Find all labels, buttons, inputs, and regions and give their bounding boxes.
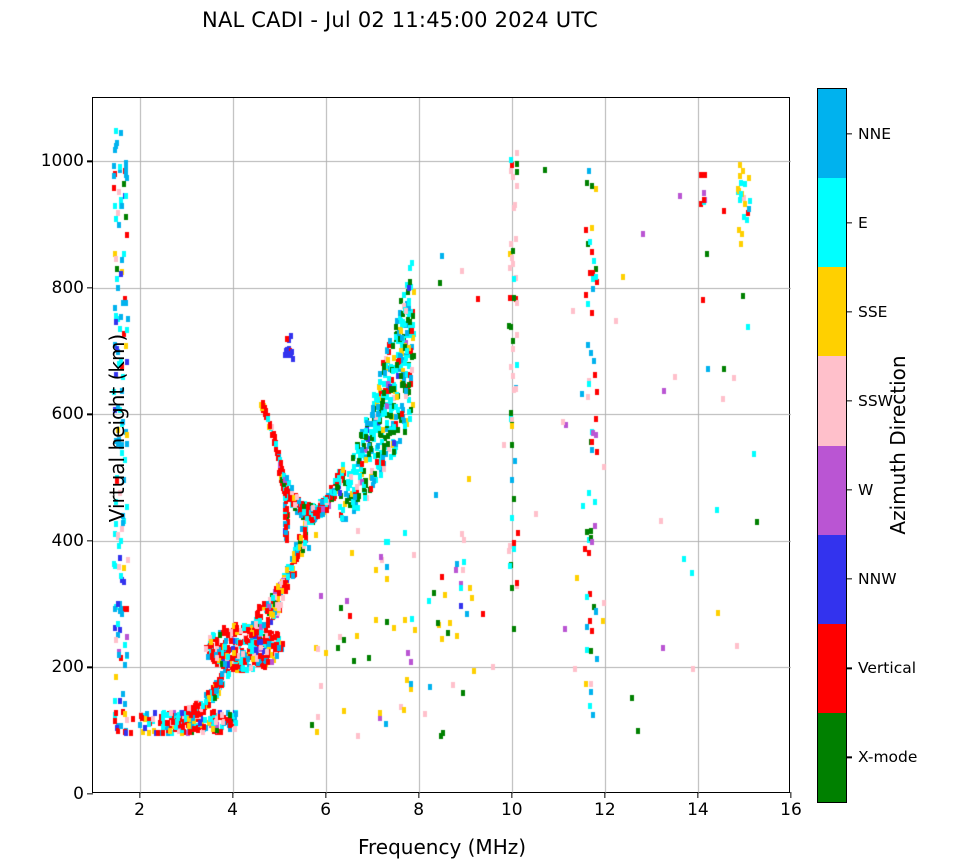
colorbar-segment-nnw[interactable] xyxy=(818,535,846,624)
colorbar-label-w: W xyxy=(858,481,873,499)
y-tick-label: 600 xyxy=(52,404,84,424)
colorbar-tick-mark xyxy=(846,757,852,758)
y-tick-mark xyxy=(87,667,93,668)
y-tick-label: 200 xyxy=(52,657,84,677)
y-tick-mark xyxy=(87,540,93,541)
colorbar-segment-x-mode[interactable] xyxy=(818,713,846,802)
colorbar-segment-e[interactable] xyxy=(818,178,846,267)
x-tick-label: 4 xyxy=(227,800,238,820)
x-tick-mark xyxy=(139,792,140,798)
y-axis-label: Virtual height (km) xyxy=(105,208,129,648)
colorbar-tick-mark xyxy=(846,489,852,490)
x-tick-label: 10 xyxy=(501,800,523,820)
colorbar-tick-mark xyxy=(846,579,852,580)
colorbar-segment-vertical[interactable] xyxy=(818,624,846,713)
x-tick-mark xyxy=(697,792,698,798)
colorbar-segment-w[interactable] xyxy=(818,446,846,535)
y-tick-label: 0 xyxy=(73,784,84,804)
y-tick-mark xyxy=(87,161,93,162)
plot-area: Virtual height (km) Frequency (MHz) 0200… xyxy=(92,97,790,793)
ionogram-figure: NAL CADI - Jul 02 11:45:00 2024 UTC Virt… xyxy=(0,0,958,857)
colorbar-tick-mark xyxy=(846,222,852,223)
x-tick-mark xyxy=(604,792,605,798)
colorbar-title: Azimuth Direction xyxy=(886,245,910,645)
x-tick-mark xyxy=(418,792,419,798)
colorbar-label-nne: NNE xyxy=(858,125,891,143)
colorbar-segment-nne[interactable] xyxy=(818,89,846,178)
colorbar-label-x-mode: X-mode xyxy=(858,748,917,766)
y-tick-label: 800 xyxy=(52,278,84,298)
colorbar-tick-mark xyxy=(846,668,852,669)
x-tick-label: 14 xyxy=(687,800,709,820)
x-axis-label: Frequency (MHz) xyxy=(93,835,791,859)
x-tick-mark xyxy=(325,792,326,798)
colorbar-label-vertical: Vertical xyxy=(858,659,916,677)
colorbar-segment-sse[interactable] xyxy=(818,267,846,356)
page-title: NAL CADI - Jul 02 11:45:00 2024 UTC xyxy=(0,8,800,32)
ionogram-scatter-canvas xyxy=(93,98,791,794)
colorbar-segment-ssw[interactable] xyxy=(818,356,846,445)
x-tick-label: 12 xyxy=(594,800,616,820)
colorbar-label-e: E xyxy=(858,214,868,232)
colorbar-tick-mark xyxy=(846,311,852,312)
y-tick-label: 1000 xyxy=(41,151,84,171)
y-tick-mark xyxy=(87,287,93,288)
colorbar-tick-mark xyxy=(846,400,852,401)
x-tick-label: 16 xyxy=(780,800,802,820)
x-tick-mark xyxy=(790,792,791,798)
colorbar-label-sse: SSE xyxy=(858,303,887,321)
y-tick-mark xyxy=(87,414,93,415)
x-tick-mark xyxy=(232,792,233,798)
x-tick-mark xyxy=(511,792,512,798)
x-tick-label: 2 xyxy=(134,800,145,820)
y-tick-label: 400 xyxy=(52,531,84,551)
colorbar-tick-mark xyxy=(846,133,852,134)
x-tick-label: 8 xyxy=(413,800,424,820)
azimuth-colorbar[interactable]: NNEESSESSWWNNWVerticalX-mode xyxy=(817,88,847,803)
y-tick-mark xyxy=(87,793,93,794)
x-tick-label: 6 xyxy=(320,800,331,820)
